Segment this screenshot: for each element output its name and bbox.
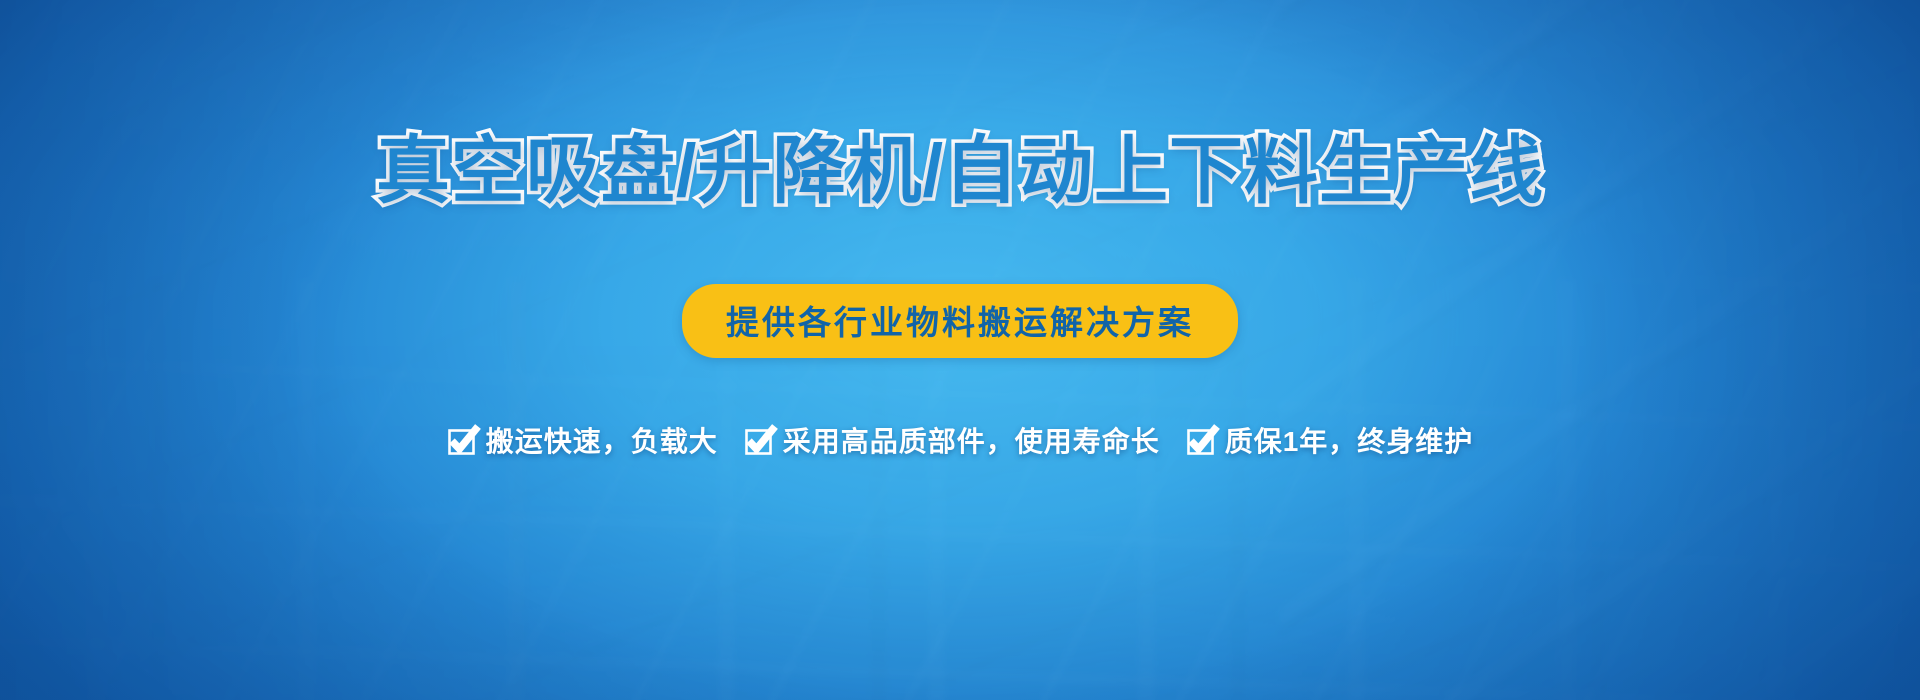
banner-content: 真空吸盘/升降机/自动上下料生产线 提供各行业物料搬运解决方案 搬运快速，负载大: [0, 0, 1920, 700]
feature-item: 采用高品质部件，使用寿命长: [744, 420, 1160, 460]
feature-label: 搬运快速，负载大: [486, 420, 718, 460]
promo-banner: 真空吸盘/升降机/自动上下料生产线 提供各行业物料搬运解决方案 搬运快速，负载大: [0, 0, 1920, 700]
checkbox-check-icon: [447, 425, 477, 455]
checkbox-check-icon: [1186, 425, 1216, 455]
feature-item: 搬运快速，负载大: [447, 420, 718, 460]
feature-label: 采用高品质部件，使用寿命长: [783, 420, 1160, 460]
checkbox-check-icon: [744, 425, 774, 455]
feature-label: 质保1年，终身维护: [1225, 420, 1474, 460]
feature-list: 搬运快速，负载大 采用高品质部件，使用寿命长: [447, 420, 1474, 460]
feature-item: 质保1年，终身维护: [1186, 420, 1474, 460]
banner-headline: 真空吸盘/升降机/自动上下料生产线: [376, 134, 1544, 208]
banner-subtitle-pill: 提供各行业物料搬运解决方案: [682, 284, 1238, 358]
